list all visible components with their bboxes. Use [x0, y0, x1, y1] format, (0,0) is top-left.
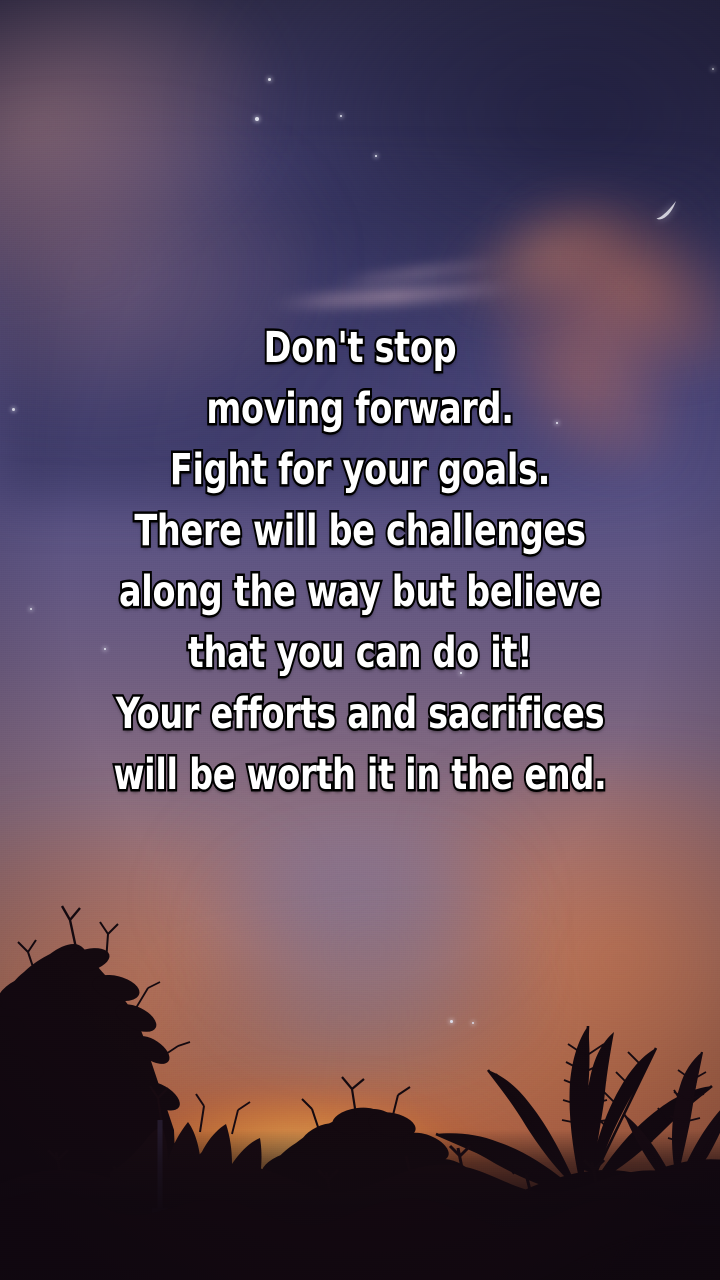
quote-text-block: Don't stop moving forward. Fight for you…	[0, 318, 720, 806]
quote-line-5: along the way but believe	[79, 562, 641, 623]
star	[712, 68, 714, 70]
star	[375, 155, 377, 157]
quote-line-2: moving forward.	[79, 379, 641, 440]
quote-line-3: Fight for your goals.	[79, 440, 641, 501]
star	[340, 115, 342, 117]
star	[255, 117, 259, 121]
quote-line-6: that you can do it!	[79, 623, 641, 684]
star	[268, 78, 271, 81]
star	[472, 1022, 474, 1024]
quote-line-8: will be worth it in the end.	[79, 745, 641, 806]
star	[450, 1020, 453, 1023]
quote-line-7: Your efforts and sacrifices	[79, 684, 641, 745]
quote-line-1: Don't stop	[79, 318, 641, 379]
wallpaper-canvas: Don't stop moving forward. Fight for you…	[0, 0, 720, 1280]
foreground-ground-mass	[0, 1130, 720, 1280]
quote-line-4: There will be challenges	[79, 501, 641, 562]
